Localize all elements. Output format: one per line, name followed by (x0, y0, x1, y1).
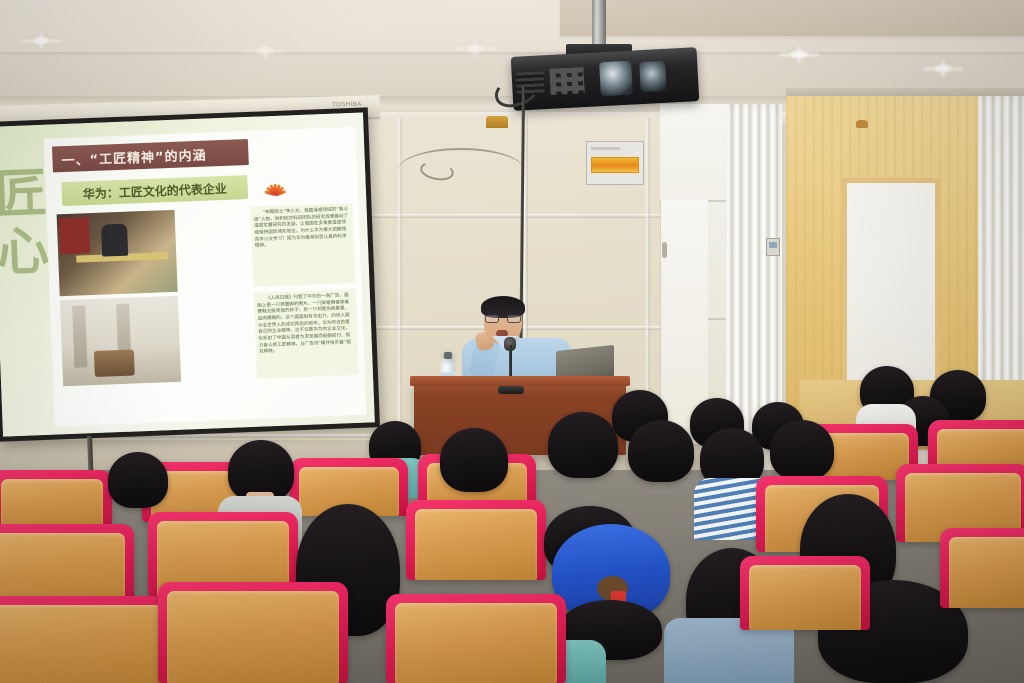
fluted-acoustic-panel (978, 96, 1024, 396)
projector-lens-secondary (639, 61, 667, 92)
auditorium-seat[interactable] (740, 556, 870, 630)
audience-head (108, 452, 168, 508)
wall-notice-sign (586, 141, 644, 185)
auditorium-seat[interactable] (158, 582, 348, 683)
auditorium-seat[interactable] (0, 596, 172, 683)
slide-paragraph-2: 《人民日报》刊登了华为的一则广告，画面上是一只芭蕾脚的照片，一只脚是舞者穿着舞鞋… (254, 289, 359, 379)
presentation-slide: 匠心 一、“工匠精神”的内涵 华为：工匠文化的代表企业 (0, 113, 375, 437)
projection-screen: 匠心 一、“工匠精神”的内涵 华为：工匠文化的代表企业 (0, 107, 380, 441)
auditorium-seat[interactable] (0, 470, 112, 530)
fluted-acoustic-panel (726, 104, 782, 434)
wall-hook (856, 120, 868, 128)
slide-content-card: 一、“工匠精神”的内涵 华为：工匠文化的代表企业 (44, 127, 367, 427)
recessed-spotlight (930, 62, 956, 75)
door-handle[interactable] (662, 242, 667, 258)
slide-watermark: 匠心 (0, 165, 46, 283)
ceiling-bracket (486, 116, 508, 128)
ceiling-projector (511, 47, 700, 111)
auditorium-seat[interactable] (406, 500, 546, 580)
audience-head (628, 420, 694, 482)
auditorium-seat[interactable] (386, 594, 566, 683)
recessed-spotlight (252, 44, 278, 57)
audience-head (548, 412, 618, 478)
slide-paragraph-1: “布鞋院士”李小文，我国遥感领域的“泰斗级”人物，他和他的科研团队的研究成果推动… (250, 203, 355, 287)
audience-head (770, 420, 834, 480)
slide-subtitle: 华为：工匠文化的代表企业 (61, 175, 248, 206)
glasses-icon (484, 315, 522, 323)
projector-lens (599, 61, 633, 97)
slide-title: 一、“工匠精神”的内涵 (52, 139, 249, 173)
recessed-spotlight (28, 34, 54, 47)
huawei-petal-logo (258, 173, 291, 196)
microphone-base (498, 386, 524, 394)
auditorium-seat[interactable] (940, 528, 1024, 608)
recessed-spotlight (462, 42, 488, 55)
slide-photo-lecture (57, 210, 178, 296)
recessed-spotlight (786, 48, 812, 61)
wall-control-plate[interactable] (766, 238, 780, 256)
audience-head (440, 428, 508, 492)
projector-keypad[interactable] (549, 67, 584, 95)
projector-mount-pole (592, 0, 606, 50)
ceiling-slab-right (560, 0, 1024, 36)
slide-photo-factory (60, 296, 181, 386)
lecture-hall-scene: TOSHIBA 匠心 一、“工匠精神”的内涵 华为：工匠文化的代表企业 (0, 0, 1024, 683)
